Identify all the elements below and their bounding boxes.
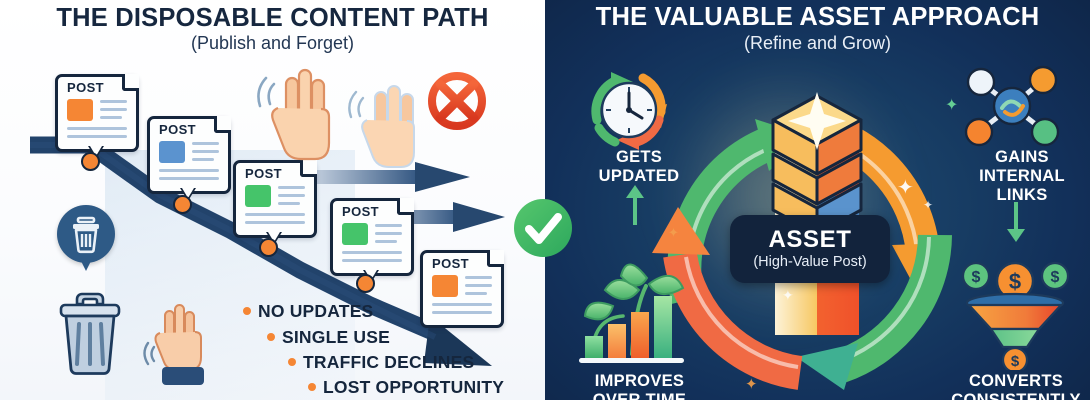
- post-card: POST: [420, 250, 504, 328]
- trash-icon: [57, 205, 115, 263]
- path-node: [81, 152, 100, 171]
- bullet-item: TRAFFIC DECLINES: [288, 352, 474, 373]
- coin-output: $: [1003, 348, 1027, 370]
- clock-refresh-icon: [581, 62, 677, 154]
- infographic-canvas: THE DISPOSABLE CONTENT PATH (Publish and…: [0, 0, 1090, 400]
- bullet-dot: [267, 333, 275, 341]
- down-arrow-icon: [1005, 200, 1027, 244]
- bullet-dot: [288, 358, 296, 366]
- bullet-item: SINGLE USE: [267, 327, 390, 348]
- post-card: POST: [330, 198, 414, 276]
- check-circle-icon: [512, 197, 574, 259]
- svg-text:$: $: [1009, 269, 1021, 294]
- bullet-item: LOST OPPORTUNITY: [308, 377, 504, 398]
- svg-text:$: $: [1051, 269, 1060, 286]
- trash-badge: [57, 205, 115, 263]
- left-panel-disposable-content: THE DISPOSABLE CONTENT PATH (Publish and…: [0, 0, 545, 400]
- post-thumbnail: [245, 185, 271, 207]
- bullet-label: SINGLE USE: [282, 327, 390, 347]
- sparkle-icon: ✦: [897, 175, 914, 200]
- quadrant-label-gets-updated: GETS UPDATED: [579, 148, 699, 186]
- trash-bin-icon: [55, 288, 125, 376]
- post-card: POST: [147, 116, 231, 194]
- page-fold-icon: [487, 250, 504, 267]
- bullet-item: NO UPDATES: [243, 301, 373, 322]
- asset-sublabel: (High-Value Post): [753, 253, 866, 271]
- badge-tail: [79, 257, 93, 271]
- page-fold-icon: [214, 116, 231, 133]
- post-card-label: POST: [159, 122, 196, 137]
- no-entry-icon: [428, 72, 486, 130]
- stacked-pillar-icon: [733, 78, 903, 348]
- network-nodes-icon: [957, 62, 1067, 150]
- post-card-label: POST: [67, 80, 104, 95]
- sparkle-icon: ✦: [782, 287, 794, 304]
- post-thumbnail: [432, 275, 458, 297]
- sparkle-icon: ✦: [745, 375, 758, 393]
- left-panel-subtitle: (Publish and Forget): [0, 33, 545, 54]
- post-thumbnail: [342, 223, 368, 245]
- left-panel-title: THE DISPOSABLE CONTENT PATH: [0, 4, 545, 33]
- path-node: [356, 274, 375, 293]
- right-panel-subtitle: (Refine and Grow): [545, 33, 1090, 54]
- post-card-label: POST: [342, 204, 379, 219]
- bullet-label: TRAFFIC DECLINES: [303, 352, 474, 372]
- quadrant-label-gains-internal-links: GAINS INTERNAL LINKS: [962, 148, 1082, 205]
- svg-text:$: $: [972, 269, 981, 286]
- quadrant-label-improves-over-time: IMPROVES OVER TIME: [572, 372, 707, 400]
- sparkle-icon: ✦: [668, 225, 679, 241]
- page-fold-icon: [397, 198, 414, 215]
- post-card: POST: [55, 74, 139, 152]
- bullet-dot: [308, 383, 316, 391]
- coin-small-left: $: [963, 263, 989, 289]
- bullet-label: NO UPDATES: [258, 301, 373, 321]
- waving-hand-icon: [345, 78, 437, 188]
- post-thumbnail: [159, 141, 185, 163]
- path-node: [259, 238, 278, 257]
- bullet-label: LOST OPPORTUNITY: [323, 377, 504, 397]
- sparkle-icon: ✦: [923, 198, 933, 212]
- waving-hand-icon: [140, 295, 212, 387]
- right-panel-title: THE VALUABLE ASSET APPROACH: [545, 3, 1090, 32]
- page-fold-icon: [122, 74, 139, 91]
- bullet-dot: [243, 307, 251, 315]
- asset-center-badge: ASSET (High-Value Post): [730, 215, 890, 283]
- waving-hand-icon: [252, 62, 348, 178]
- up-arrow-icon: [624, 185, 646, 227]
- post-thumbnail: [67, 99, 93, 121]
- growth-chart-plant-icon: [575, 248, 700, 368]
- asset-label: ASSET: [768, 227, 851, 253]
- conversion-funnel-icon: $ $ $ $: [957, 252, 1079, 370]
- path-node: [173, 195, 192, 214]
- quadrant-label-converts-consistently: CONVERTS CONSISTENTLY: [942, 372, 1090, 400]
- post-card-label: POST: [432, 256, 469, 271]
- svg-text:$: $: [1011, 353, 1020, 370]
- coin-small-right: $: [1042, 263, 1068, 289]
